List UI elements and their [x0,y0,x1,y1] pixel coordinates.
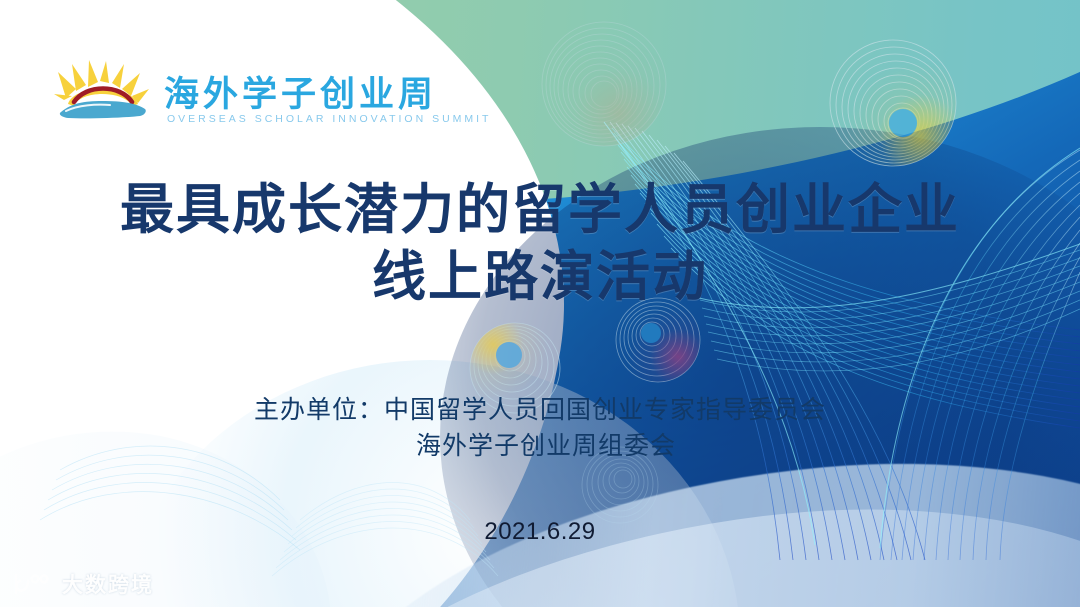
organizer-block: 主办单位：中国留学人员回国创业专家指导委员会 海外学子创业周组委会 [0,392,1080,465]
logo-name-cn: 海外学子创业周 [164,78,491,113]
title-line-2: 线上路演活动 [0,245,1080,308]
watermark-text: 大数跨境 [62,569,154,599]
sun-bridge-water-logo-icon [52,58,154,126]
presentation-slide: 海外学子创业周 OVERSEAS SCHOLAR INNOVATION SUMM… [0,0,1080,607]
ring-top-left-faded [542,22,666,146]
dashu-kuajing-logo-icon [10,572,54,596]
ring-mid-magenta [616,298,700,382]
organizer-line-2: 海外学子创业周组委会 [0,428,1080,464]
event-logo: 海外学子创业周 OVERSEAS SCHOLAR INNOVATION SUMM… [52,58,491,126]
main-title: 最具成长潜力的留学人员创业企业 线上路演活动 [0,178,1080,308]
ring-top-right-yellow [830,40,956,166]
logo-text-block: 海外学子创业周 OVERSEAS SCHOLAR INNOVATION SUMM… [164,78,491,127]
title-line-1: 最具成长潜力的留学人员创业企业 [0,178,1080,241]
organizer-line-1: 主办单位：中国留学人员回国创业专家指导委员会 [0,392,1080,428]
event-date: 2021.6.29 [0,518,1080,546]
logo-name-en: OVERSEAS SCHOLAR INNOVATION SUMMIT [164,114,491,125]
watermark: 大数跨境 [10,569,154,599]
